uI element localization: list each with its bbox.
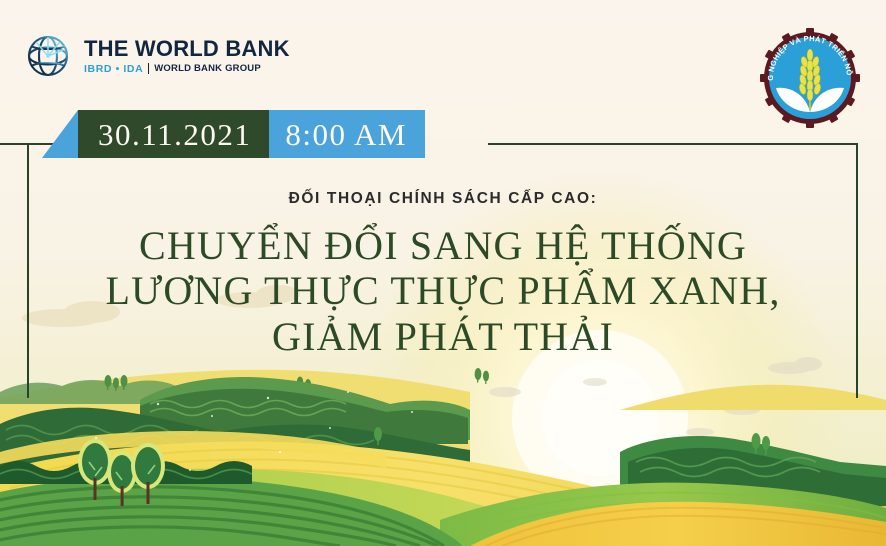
world-bank-ibrd-ida: IBRD • IDA bbox=[84, 63, 143, 75]
frame-line-top-right bbox=[488, 143, 858, 145]
event-date-block: 30.11.2021 bbox=[78, 110, 269, 158]
event-title: CHUYỂN ĐỔI SANG HỆ THỐNG LƯƠNG THỰC THỰC… bbox=[0, 223, 886, 360]
banner-accent-tab bbox=[42, 110, 78, 158]
world-bank-group-label: WORLD BANK GROUP bbox=[154, 63, 261, 74]
divider bbox=[148, 63, 149, 74]
event-time-block: 8:00 AM bbox=[269, 110, 425, 158]
globe-icon bbox=[22, 30, 74, 82]
event-title-line-3: GIẢM PHÁT THẢI bbox=[0, 314, 886, 360]
world-bank-logo: THE WORLD BANK IBRD • IDA WORLD BANK GRO… bbox=[22, 30, 290, 82]
event-banner: THE WORLD BANK IBRD • IDA WORLD BANK GRO… bbox=[0, 0, 886, 546]
world-bank-title: THE WORLD BANK bbox=[84, 37, 290, 60]
event-time: 8:00 AM bbox=[285, 119, 407, 150]
event-title-line-2: LƯƠNG THỰC THỰC PHẨM XANH, bbox=[0, 268, 886, 314]
event-title-line-1: CHUYỂN ĐỔI SANG HỆ THỐNG bbox=[0, 223, 886, 269]
event-date: 30.11.2021 bbox=[98, 119, 251, 150]
event-eyebrow: ĐỐI THOẠI CHÍNH SÁCH CẤP CAO: bbox=[0, 190, 886, 209]
ministry-agriculture-emblem: BỘ NÔNG NGHIỆP VÀ PHÁT TRIỂN NÔNG THÔN bbox=[760, 28, 860, 128]
date-time-banner: 30.11.2021 8:00 AM bbox=[42, 110, 425, 158]
headline-group: ĐỐI THOẠI CHÍNH SÁCH CẤP CAO: CHUYỂN ĐỔI… bbox=[0, 190, 886, 359]
